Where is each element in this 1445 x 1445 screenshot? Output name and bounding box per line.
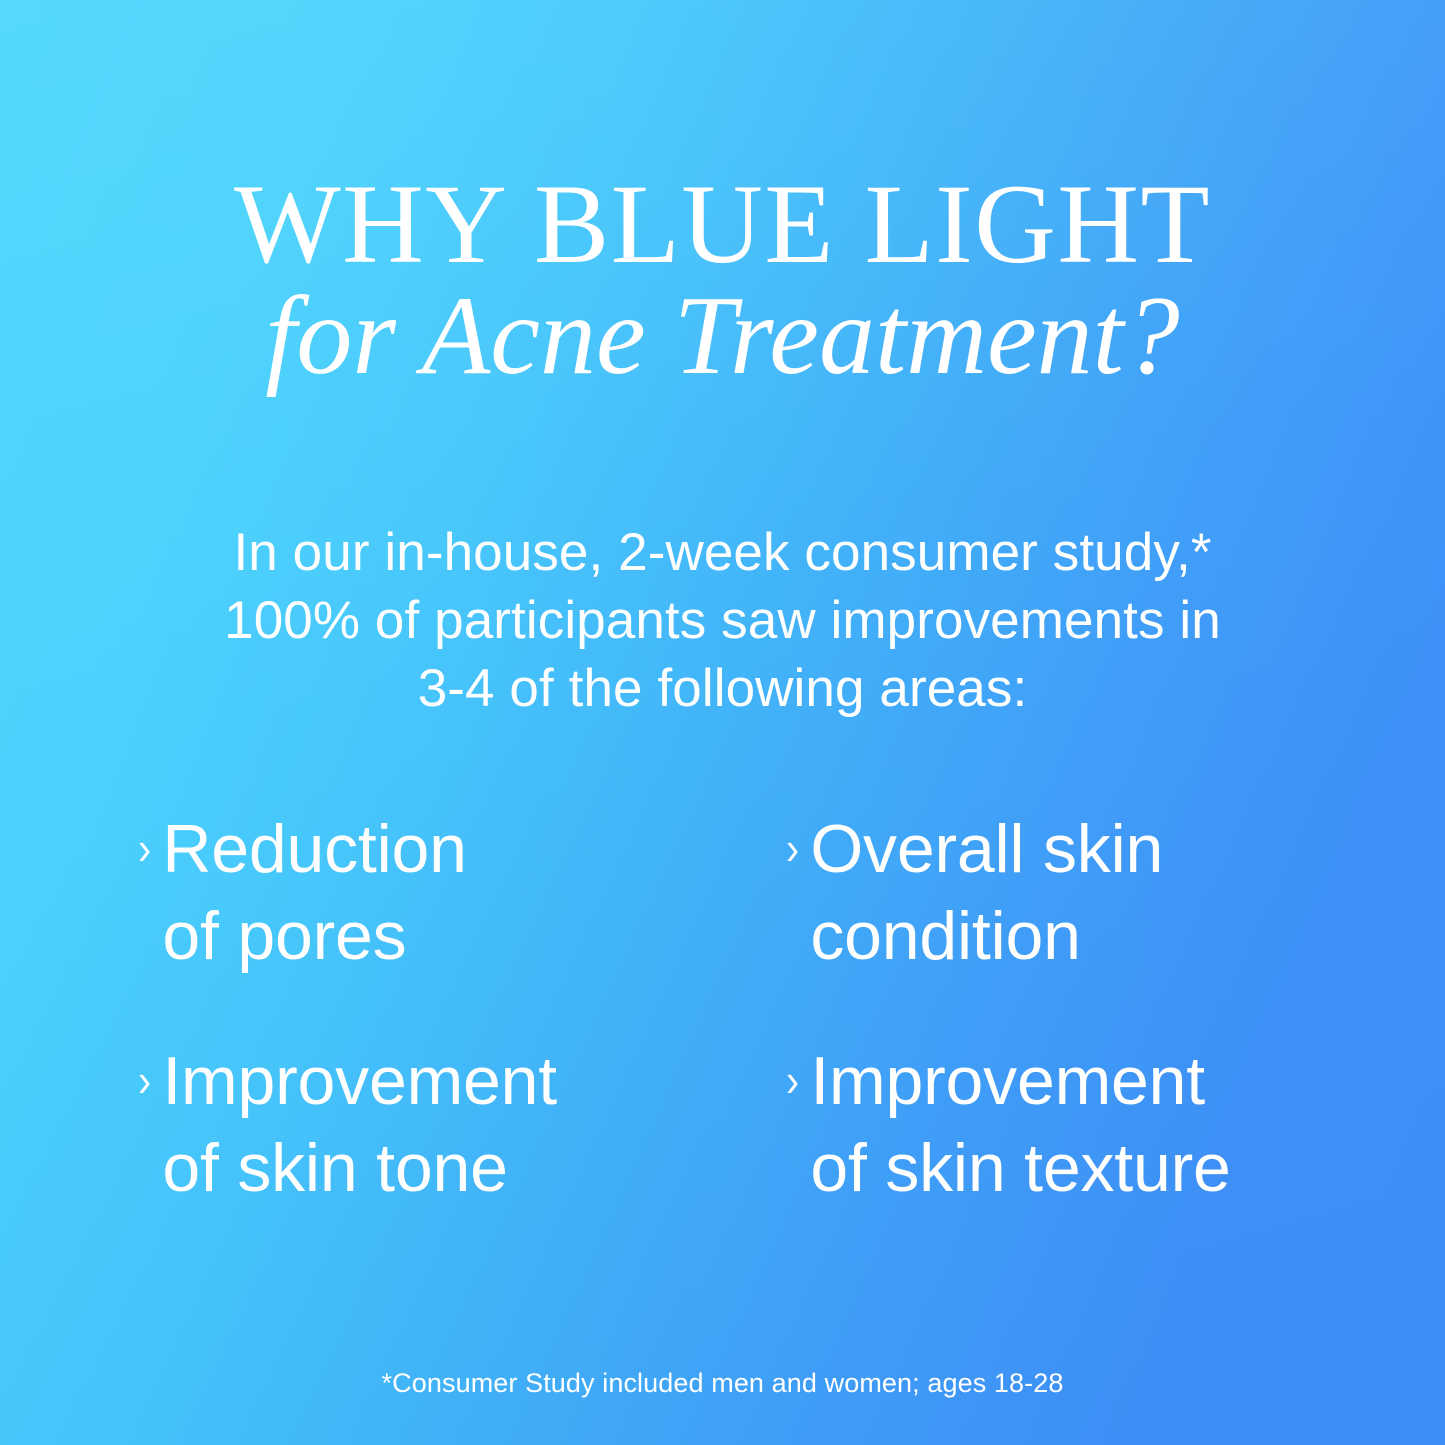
benefit-item-improvement-of-skin-texture: › Improvement of skin texture — [786, 1038, 1338, 1212]
chevron-right-icon: › — [786, 825, 799, 871]
intro-line-1: In our in-house, 2-week consumer study,* — [170, 519, 1275, 587]
footnote-disclaimer: *Consumer Study included men and women; … — [0, 1368, 1445, 1399]
page-title-line-1: WHY BLUE LIGHT — [0, 167, 1445, 282]
promo-graphic: WHY BLUE LIGHT for Acne Treatment? In ou… — [0, 0, 1445, 1445]
intro-line-3: 3-4 of the following areas: — [170, 655, 1275, 723]
benefit-label: Improvement of skin texture — [810, 1038, 1230, 1212]
benefit-item-overall-skin-condition: › Overall skin condition — [786, 806, 1338, 980]
benefit-label: Improvement of skin tone — [162, 1038, 557, 1212]
page-title: WHY BLUE LIGHT for Acne Treatment? — [0, 167, 1445, 392]
chevron-right-icon: › — [138, 1057, 151, 1103]
benefit-label: Reduction of pores — [162, 806, 466, 980]
intro-line-2: 100% of participants saw improvements in — [170, 587, 1275, 655]
page-title-line-2: for Acne Treatment? — [0, 279, 1445, 393]
intro-paragraph: In our in-house, 2-week consumer study,*… — [170, 519, 1275, 722]
chevron-right-icon: › — [786, 1057, 799, 1103]
benefit-label: Overall skin condition — [810, 806, 1163, 980]
benefit-item-reduction-of-pores: › Reduction of pores — [138, 806, 786, 980]
benefit-item-improvement-of-skin-tone: › Improvement of skin tone — [138, 1038, 786, 1212]
benefits-grid: › Reduction of pores › Overall skin cond… — [138, 806, 1338, 1212]
chevron-right-icon: › — [138, 825, 151, 871]
